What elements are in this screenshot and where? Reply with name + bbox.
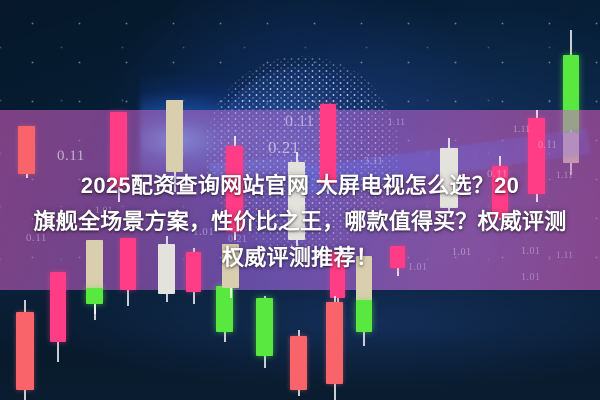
candlestick-body <box>290 336 307 390</box>
headline-line-1: 2025配资查询网站官网 大屏电视怎么选？20 <box>0 168 600 204</box>
candlestick-pink <box>50 272 66 362</box>
candlestick-green <box>356 300 372 346</box>
candlestick-red <box>290 330 307 396</box>
headline-block: 2025配资查询网站官网 大屏电视怎么选？20 旗舰全场景方案，性价比之王，哪款… <box>0 168 600 276</box>
candlestick-body <box>356 300 372 332</box>
candlestick-body <box>86 288 103 304</box>
headline-line-2: 旗舰全场景方案，性价比之王，哪款值得买？权威评测 <box>0 204 600 240</box>
candlestick-body <box>256 298 273 356</box>
candlestick-body <box>326 302 343 384</box>
candlestick-green <box>86 288 103 314</box>
candlestick-red <box>326 296 343 400</box>
candlestick-red <box>16 300 34 400</box>
candlestick-green <box>256 296 273 368</box>
candlestick-body <box>16 312 34 390</box>
banner-image: 0.110.110.211.111.110.113.111.111.011.01… <box>0 0 600 400</box>
candlestick-body <box>50 272 66 342</box>
headline-line-3: 权威评测推荐！ <box>0 240 600 276</box>
